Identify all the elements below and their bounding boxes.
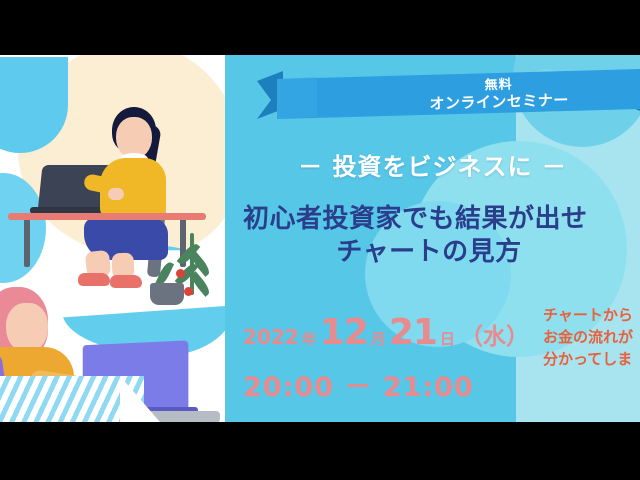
headline-line2: チャートの見方 — [243, 236, 615, 269]
side-note-line2: お金の流れが — [543, 327, 633, 349]
side-note: チャートから お金の流れが 分かってしま — [543, 305, 633, 370]
berry-icon — [184, 287, 193, 296]
hand-upper-figure — [108, 188, 124, 200]
slide-subtitle: － 投資をビジネスに － — [225, 147, 640, 182]
event-weekday: （水） — [460, 317, 529, 351]
ribbon-line2: オンラインセミナー — [429, 92, 569, 113]
stripe-corner-mask — [120, 376, 160, 422]
side-note-line1: チャートから — [543, 305, 633, 327]
event-day: 21 — [389, 312, 437, 353]
event-time-range: 20:00 － 21:00 — [243, 365, 529, 404]
slide-headline: 初心者投資家でも結果が出せ チャートの見方 — [243, 203, 640, 270]
ribbon-banner: 無料 オンラインセミナー — [257, 69, 640, 123]
event-month-unit: 月 — [371, 328, 386, 349]
shoe-right-shape — [110, 275, 142, 288]
shoe-left-shape — [78, 273, 110, 286]
event-day-unit: 日 — [440, 328, 455, 349]
illustration-panel — [0, 55, 225, 422]
event-year: 2022 — [243, 325, 299, 349]
letterbox-top — [0, 0, 640, 55]
video-player-frame: 無料 オンラインセミナー － 投資をビジネスに － 初心者投資家でも結果が出せ … — [0, 0, 640, 480]
ribbon-text-block: 無料 オンラインセミナー — [256, 63, 640, 128]
letterbox-bottom — [0, 422, 640, 480]
face-lower-figure — [6, 303, 48, 353]
content-panel: 無料 オンラインセミナー － 投資をビジネスに － 初心者投資家でも結果が出せ … — [225, 55, 640, 422]
event-datetime: 2022 年 12 月 21 日 （水） 20:00 － 21:00 — [243, 312, 529, 404]
plant-pot-shape — [150, 283, 184, 305]
seminar-slide: 無料 オンラインセミナー － 投資をビジネスに － 初心者投資家でも結果が出せ … — [0, 55, 640, 422]
side-note-line3: 分かってしま — [543, 349, 633, 371]
berry-icon — [176, 269, 185, 278]
headline-line1: 初心者投資家でも結果が出せ — [243, 203, 640, 236]
desk-top-shape — [8, 213, 206, 220]
desk-leg-left — [24, 215, 30, 267]
event-month: 12 — [320, 312, 368, 353]
event-year-unit: 年 — [302, 328, 317, 349]
event-date-row: 2022 年 12 月 21 日 （水） — [243, 312, 529, 353]
